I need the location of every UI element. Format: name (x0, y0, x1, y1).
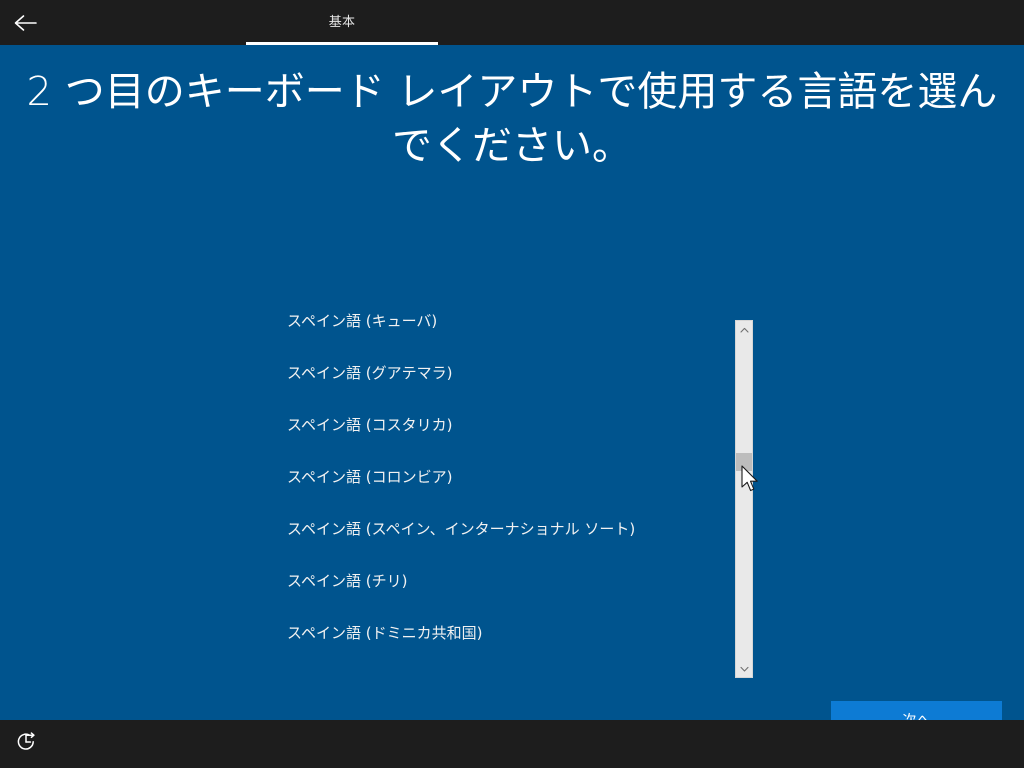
list-item[interactable]: スペイン語 (キューバ) (287, 295, 727, 347)
back-button[interactable] (4, 4, 48, 42)
tab-basic-label: 基本 (329, 15, 355, 31)
ease-of-access-button[interactable] (8, 726, 44, 762)
title-bar: 基本 (0, 0, 1024, 45)
list-item[interactable]: スペイン語 (コスタリカ) (287, 399, 727, 451)
ease-of-access-icon (15, 731, 37, 757)
chevron-up-icon[interactable] (736, 321, 752, 338)
bottom-bar (0, 720, 1024, 768)
list-item[interactable]: スペイン語 (スペイン、インターナショナル ソート) (287, 503, 727, 555)
main-content: 2 つ目のキーボード レイアウトで使用する言語を選んでください。 スペイン語 (… (0, 45, 1024, 720)
list-scrollbar[interactable] (735, 320, 753, 678)
list-item[interactable]: スペイン語 (コロンビア) (287, 451, 727, 503)
list-item[interactable]: スペイン語 (グアテマラ) (287, 347, 727, 399)
list-item[interactable]: スペイン語 (チリ) (287, 555, 727, 607)
oobe-screen: 基本 2 つ目のキーボード レイアウトで使用する言語を選んでください。 スペイン… (0, 0, 1024, 768)
chevron-down-icon[interactable] (736, 660, 752, 677)
scrollbar-thumb[interactable] (736, 453, 752, 471)
language-list[interactable]: スペイン語 (キューバ) スペイン語 (グアテマラ) スペイン語 (コスタリカ)… (287, 295, 727, 615)
back-arrow-icon (13, 13, 39, 33)
tab-basic[interactable]: 基本 (246, 0, 438, 45)
page-title: 2 つ目のキーボード レイアウトで使用する言語を選んでください。 (20, 65, 1004, 173)
list-item[interactable]: スペイン語 (ドミニカ共和国) (287, 607, 727, 659)
